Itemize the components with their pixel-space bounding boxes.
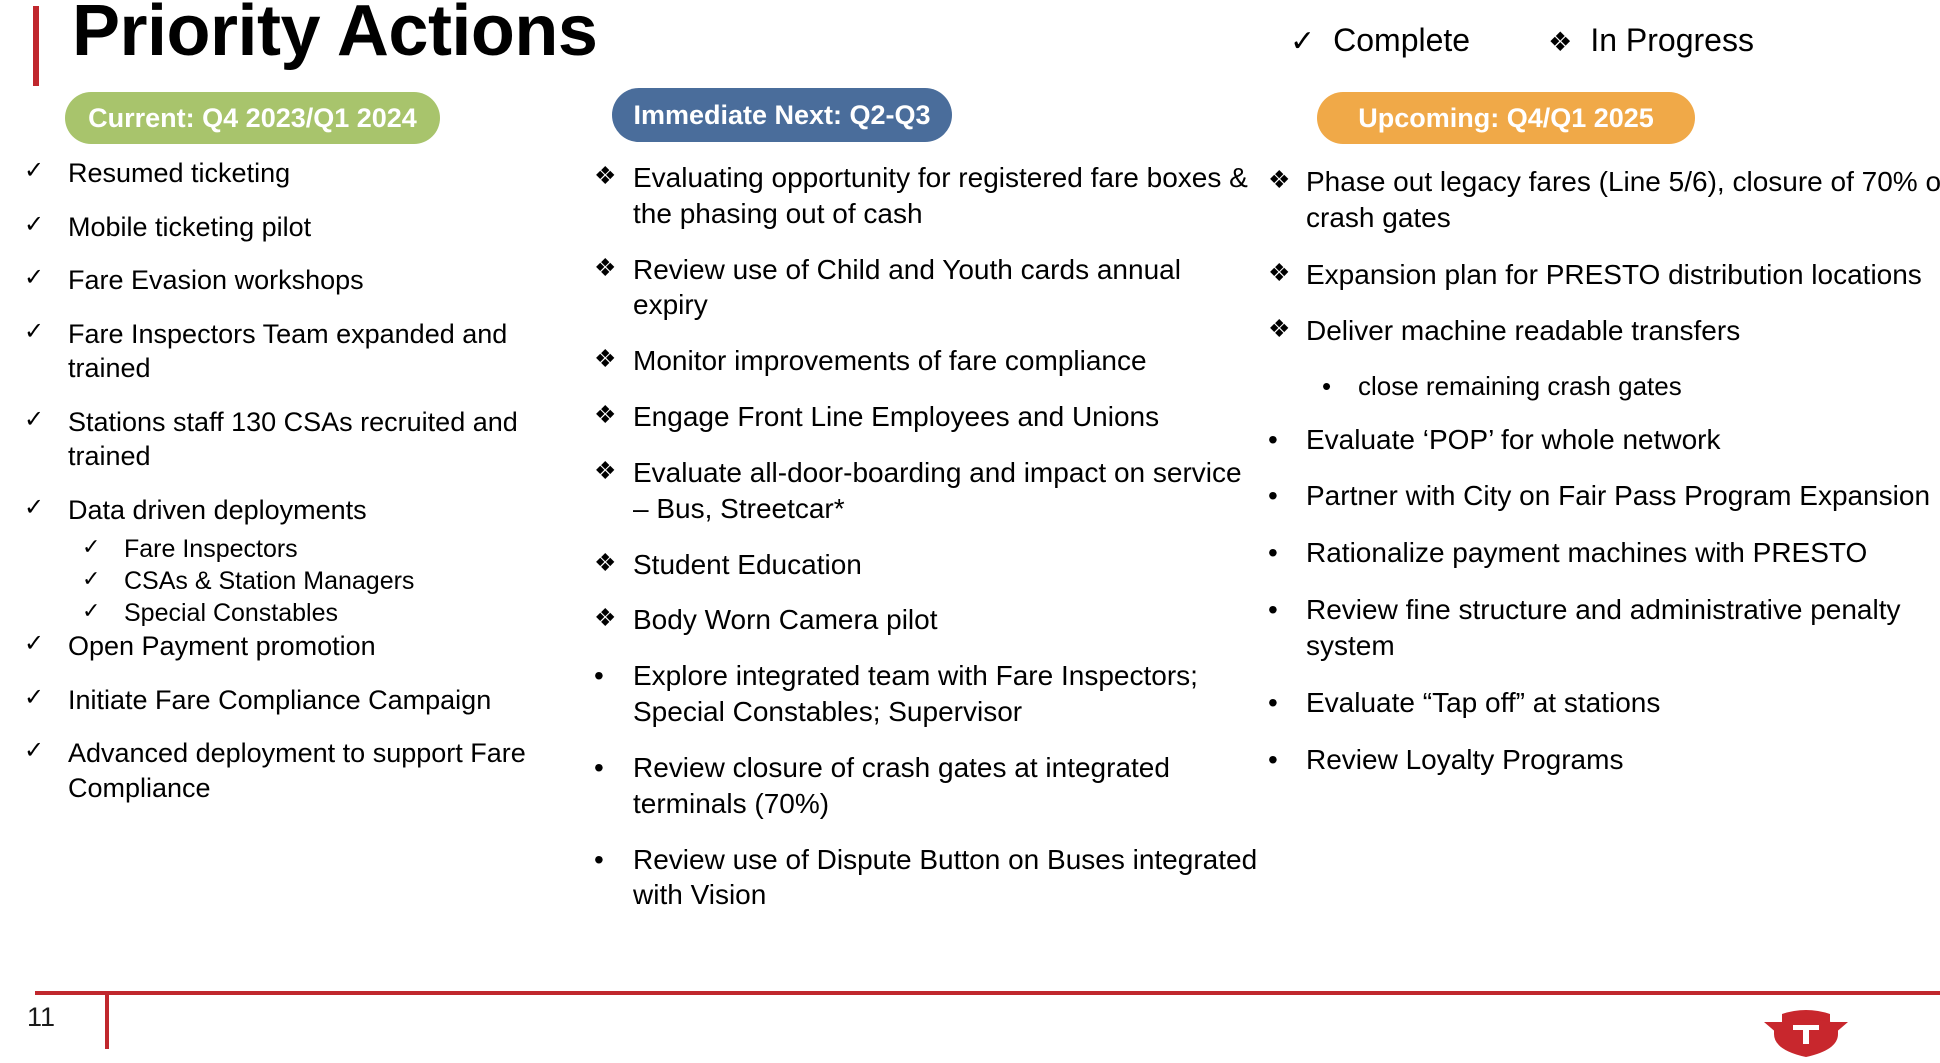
- checkmark-icon: ✓: [24, 493, 68, 524]
- list-item-label: Rationalize payment machines with PRESTO: [1306, 535, 1940, 571]
- bullet-list-current: ✓Resumed ticketing✓Mobile ticketing pilo…: [24, 156, 580, 825]
- list-item-label: Evaluating opportunity for registered fa…: [633, 160, 1260, 232]
- bullet-dot-icon: •: [1268, 742, 1306, 778]
- list-item-label: Resumed ticketing: [68, 156, 580, 191]
- diamond-cluster-icon: ❖: [594, 455, 633, 487]
- diamond-cluster-icon: ❖: [1548, 29, 1572, 56]
- diamond-cluster-icon: ❖: [1268, 313, 1306, 345]
- list-item-label: Explore integrated team with Fare Inspec…: [633, 658, 1260, 730]
- list-item: ❖Deliver machine readable transfers: [1268, 313, 1940, 349]
- checkmark-icon: ✓: [24, 263, 68, 294]
- legend-item-in-progress: ❖ In Progress: [1548, 22, 1754, 59]
- list-item-label: Open Payment promotion: [68, 629, 580, 664]
- checkmark-icon: ✓: [24, 210, 68, 241]
- checkmark-icon: ✓: [24, 629, 68, 660]
- list-item: •Rationalize payment machines with PREST…: [1268, 535, 1940, 571]
- list-item: ❖Engage Front Line Employees and Unions: [594, 399, 1260, 435]
- diamond-cluster-icon: ❖: [594, 160, 633, 192]
- list-item-label: Evaluate ‘POP’ for whole network: [1306, 422, 1940, 458]
- list-item-label: CSAs & Station Managers: [124, 565, 580, 597]
- list-item: ✓Special Constables: [24, 597, 580, 629]
- list-item-label: Partner with City on Fair Pass Program E…: [1306, 478, 1940, 514]
- diamond-cluster-icon: ❖: [594, 252, 633, 284]
- list-item-label: Monitor improvements of fare compliance: [633, 343, 1260, 379]
- list-item: ❖Evaluate all-door-boarding and impact o…: [594, 455, 1260, 527]
- list-item: ✓Data driven deployments: [24, 493, 580, 528]
- list-item-label: Evaluate all-door-boarding and impact on…: [633, 455, 1260, 527]
- list-item: ✓Resumed ticketing: [24, 156, 580, 191]
- list-item-label: Fare Inspectors: [124, 533, 580, 565]
- list-item-label: Fare Inspectors Team expanded and traine…: [68, 317, 580, 386]
- list-item-label: Fare Evasion workshops: [68, 263, 580, 298]
- list-item: ❖Expansion plan for PRESTO distribution …: [1268, 257, 1940, 293]
- ttc-logo: [1762, 1004, 1850, 1058]
- list-item: ❖Review use of Child and Youth cards ann…: [594, 252, 1260, 324]
- list-item: ❖Student Education: [594, 547, 1260, 583]
- footer-tick-mark: [105, 991, 109, 1049]
- legend-label-in-progress: In Progress: [1590, 22, 1754, 59]
- list-item-label: Review use of Child and Youth cards annu…: [633, 252, 1260, 324]
- list-item: ✓CSAs & Station Managers: [24, 565, 580, 597]
- bullet-dot-icon: •: [1268, 422, 1306, 458]
- list-item: •Review use of Dispute Button on Buses i…: [594, 842, 1260, 914]
- pill-immediate-next: Immediate Next: Q2-Q3: [612, 88, 952, 142]
- list-item-label: Special Constables: [124, 597, 580, 629]
- diamond-cluster-icon: ❖: [1268, 164, 1306, 196]
- list-item-label: Data driven deployments: [68, 493, 580, 528]
- list-item: ✓Initiate Fare Compliance Campaign: [24, 683, 580, 718]
- checkmark-icon: ✓: [24, 405, 68, 436]
- bullet-dot-icon: •: [594, 658, 633, 694]
- list-item: •Explore integrated team with Fare Inspe…: [594, 658, 1260, 730]
- diamond-cluster-icon: ❖: [594, 399, 633, 431]
- list-item: •Evaluate ‘POP’ for whole network: [1268, 422, 1940, 458]
- list-item: ❖Body Worn Camera pilot: [594, 602, 1260, 638]
- list-item-label: Mobile ticketing pilot: [68, 210, 580, 245]
- diamond-cluster-icon: ❖: [1268, 257, 1306, 289]
- list-item-label: Advanced deployment to support Fare Comp…: [68, 736, 580, 805]
- list-item: ✓Open Payment promotion: [24, 629, 580, 664]
- bullet-dot-icon: •: [1322, 370, 1358, 403]
- list-item: ✓Mobile ticketing pilot: [24, 210, 580, 245]
- list-item-label: Deliver machine readable transfers: [1306, 313, 1940, 349]
- list-item: ✓Advanced deployment to support Fare Com…: [24, 736, 580, 805]
- status-legend: ✓ Complete ❖ In Progress: [1290, 22, 1754, 59]
- list-item: ❖Evaluating opportunity for registered f…: [594, 160, 1260, 232]
- list-item-label: Evaluate “Tap off” at stations: [1306, 685, 1940, 721]
- list-item: ✓Stations staff 130 CSAs recruited and t…: [24, 405, 580, 474]
- list-item-label: close remaining crash gates: [1358, 370, 1940, 403]
- checkmark-icon: ✓: [24, 736, 68, 767]
- legend-item-complete: ✓ Complete: [1290, 22, 1470, 59]
- list-item: •Review closure of crash gates at integr…: [594, 750, 1260, 822]
- bullet-dot-icon: •: [594, 750, 633, 786]
- list-item-label: Engage Front Line Employees and Unions: [633, 399, 1260, 435]
- list-item: •Evaluate “Tap off” at stations: [1268, 685, 1940, 721]
- list-item-label: Initiate Fare Compliance Campaign: [68, 683, 580, 718]
- bullet-list-upcoming: ❖Phase out legacy fares (Line 5/6), clos…: [1268, 164, 1940, 798]
- checkmark-icon: ✓: [82, 597, 124, 625]
- checkmark-icon: ✓: [24, 156, 68, 187]
- list-item: •Review fine structure and administrativ…: [1268, 592, 1940, 664]
- list-item-label: Expansion plan for PRESTO distribution l…: [1306, 257, 1940, 293]
- list-item: •Partner with City on Fair Pass Program …: [1268, 478, 1940, 514]
- list-item-label: Student Education: [633, 547, 1260, 583]
- pill-upcoming: Upcoming: Q4/Q1 2025: [1317, 92, 1695, 144]
- list-item: •close remaining crash gates: [1268, 370, 1940, 403]
- list-item: ❖Monitor improvements of fare compliance: [594, 343, 1260, 379]
- bullet-dot-icon: •: [1268, 478, 1306, 514]
- list-item-label: Phase out legacy fares (Line 5/6), closu…: [1306, 164, 1940, 236]
- checkmark-icon: ✓: [82, 533, 124, 561]
- page-title: Priority Actions: [72, 0, 597, 71]
- list-item: ❖Phase out legacy fares (Line 5/6), clos…: [1268, 164, 1940, 236]
- checkmark-icon: ✓: [1290, 27, 1315, 57]
- checkmark-icon: ✓: [82, 565, 124, 593]
- list-item: ✓Fare Evasion workshops: [24, 263, 580, 298]
- list-item-label: Review use of Dispute Button on Buses in…: [633, 842, 1260, 914]
- title-accent-bar: [33, 6, 39, 86]
- legend-label-complete: Complete: [1333, 22, 1470, 59]
- bullet-dot-icon: •: [1268, 535, 1306, 571]
- list-item-label: Review Loyalty Programs: [1306, 742, 1940, 778]
- checkmark-icon: ✓: [24, 317, 68, 348]
- list-item: •Review Loyalty Programs: [1268, 742, 1940, 778]
- list-item: ✓Fare Inspectors: [24, 533, 580, 565]
- list-item-label: Body Worn Camera pilot: [633, 602, 1260, 638]
- diamond-cluster-icon: ❖: [594, 547, 633, 579]
- pill-current: Current: Q4 2023/Q1 2024: [65, 92, 440, 144]
- list-item: ✓Fare Inspectors Team expanded and train…: [24, 317, 580, 386]
- list-item-label: Review closure of crash gates at integra…: [633, 750, 1260, 822]
- list-item-label: Stations staff 130 CSAs recruited and tr…: [68, 405, 580, 474]
- bullet-dot-icon: •: [1268, 592, 1306, 628]
- bullet-list-immediate-next: ❖Evaluating opportunity for registered f…: [594, 160, 1260, 933]
- checkmark-icon: ✓: [24, 683, 68, 714]
- list-item-label: Review fine structure and administrative…: [1306, 592, 1940, 664]
- bullet-dot-icon: •: [1268, 685, 1306, 721]
- footer-divider: [35, 991, 1940, 995]
- diamond-cluster-icon: ❖: [594, 343, 633, 375]
- bullet-dot-icon: •: [594, 842, 633, 878]
- diamond-cluster-icon: ❖: [594, 602, 633, 634]
- page-number: 11: [27, 1002, 55, 1033]
